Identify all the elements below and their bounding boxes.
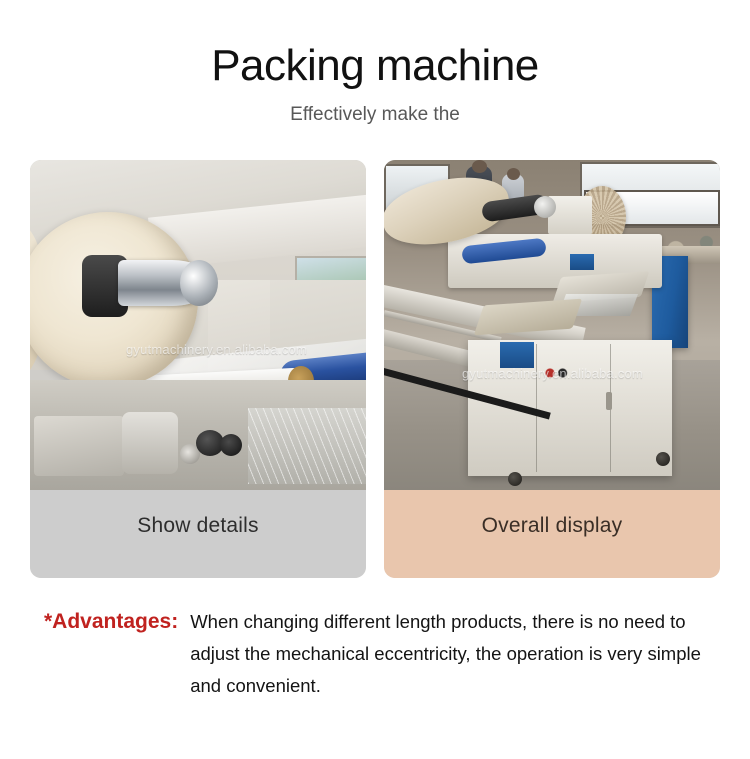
photo-show-details: gyutmachinery.en.alibaba.com [30, 160, 366, 490]
image-card-overall-display[interactable]: gyutmachinery.en.alibaba.com Overall dis… [384, 160, 720, 578]
packing-machine-scene [384, 160, 720, 490]
image-card-show-details[interactable]: gyutmachinery.en.alibaba.com Show detail… [30, 160, 366, 578]
photo-overall-display: gyutmachinery.en.alibaba.com [384, 160, 720, 490]
image-card-row: gyutmachinery.en.alibaba.com Show detail… [30, 160, 720, 578]
control-buttons [544, 368, 574, 378]
product-banner: Packing machine Effectively make the [0, 0, 750, 759]
card-caption-show-details: Show details [30, 490, 366, 578]
film-roll-scene [30, 160, 366, 490]
page-subtitle: Effectively make the [0, 104, 750, 127]
header: Packing machine Effectively make the [0, 0, 750, 127]
machine-cabinet [468, 340, 672, 476]
advantages-text: When changing different length products,… [190, 606, 716, 702]
card-caption-overall-display: Overall display [384, 490, 720, 578]
advantages-block: *Advantages: When changing different len… [44, 606, 716, 702]
advantages-label: *Advantages: [44, 606, 190, 638]
page-title: Packing machine [0, 42, 750, 90]
